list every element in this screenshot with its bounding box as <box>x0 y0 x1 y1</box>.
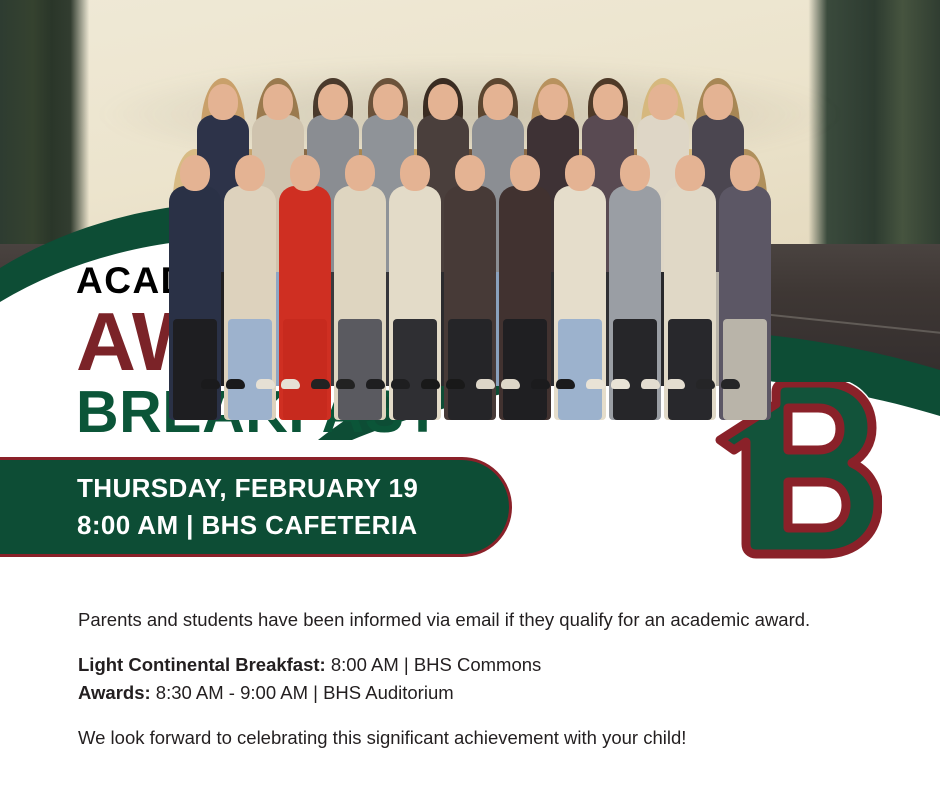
head <box>235 155 265 191</box>
head <box>538 84 568 120</box>
legs <box>228 319 272 420</box>
head <box>263 84 293 120</box>
shoe <box>446 379 465 389</box>
shoe <box>611 379 630 389</box>
banner-date: THURSDAY, FEBRUARY 19 <box>77 470 509 507</box>
head <box>675 155 705 191</box>
detail-label-breakfast: Light Continental Breakfast: <box>78 654 326 675</box>
head <box>345 155 375 191</box>
head <box>730 155 760 191</box>
shoe <box>421 379 440 389</box>
logo-counter-upper <box>788 408 840 450</box>
head <box>208 84 238 120</box>
shoe <box>586 379 605 389</box>
head <box>648 84 678 120</box>
shoe <box>501 379 520 389</box>
legs <box>448 319 492 420</box>
shoe <box>696 379 715 389</box>
head <box>373 84 403 120</box>
shoe <box>641 379 660 389</box>
head <box>593 84 623 120</box>
head <box>428 84 458 120</box>
detail-line-breakfast: Light Continental Breakfast: 8:00 AM | B… <box>78 651 908 679</box>
shoe <box>201 379 220 389</box>
banner-time-place: 8:00 AM | BHS CAFETERIA <box>77 507 509 544</box>
shoe <box>256 379 275 389</box>
legs <box>723 319 767 420</box>
head <box>180 155 210 191</box>
detail-label-awards: Awards: <box>78 682 151 703</box>
shoe <box>281 379 300 389</box>
legs <box>613 319 657 420</box>
logo-counter-lower <box>788 482 846 528</box>
legs <box>668 319 712 420</box>
legs <box>173 319 217 420</box>
head <box>510 155 540 191</box>
copy-closing-paragraph: We look forward to celebrating this sign… <box>78 724 908 752</box>
shoe <box>366 379 385 389</box>
body-copy-block: Parents and students have been informed … <box>78 606 908 752</box>
detail-value-awards: 8:30 AM - 9:00 AM | BHS Auditorium <box>151 682 454 703</box>
shoe <box>556 379 575 389</box>
head <box>455 155 485 191</box>
shoe <box>721 379 740 389</box>
shoe <box>476 379 495 389</box>
copy-lead-paragraph: Parents and students have been informed … <box>78 606 908 634</box>
shoe <box>336 379 355 389</box>
head <box>620 155 650 191</box>
head <box>290 155 320 191</box>
legs <box>393 319 437 420</box>
shoe <box>311 379 330 389</box>
event-details-banner: THURSDAY, FEBRUARY 19 8:00 AM | BHS CAFE… <box>0 457 512 557</box>
legs <box>338 319 382 420</box>
shoe <box>531 379 550 389</box>
shoe <box>666 379 685 389</box>
detail-line-awards: Awards: 8:30 AM - 9:00 AM | BHS Auditori… <box>78 679 908 707</box>
head <box>565 155 595 191</box>
legs <box>558 319 602 420</box>
head <box>318 84 348 120</box>
shoe <box>391 379 410 389</box>
head <box>483 84 513 120</box>
head <box>400 155 430 191</box>
flyer-canvas: ACADEMIC AWARDS BREAKFAST THURSDAY, FEBR… <box>0 0 940 788</box>
detail-value-breakfast: 8:00 AM | BHS Commons <box>326 654 542 675</box>
legs <box>503 319 547 420</box>
legs <box>283 319 327 420</box>
head <box>703 84 733 120</box>
shoe <box>226 379 245 389</box>
